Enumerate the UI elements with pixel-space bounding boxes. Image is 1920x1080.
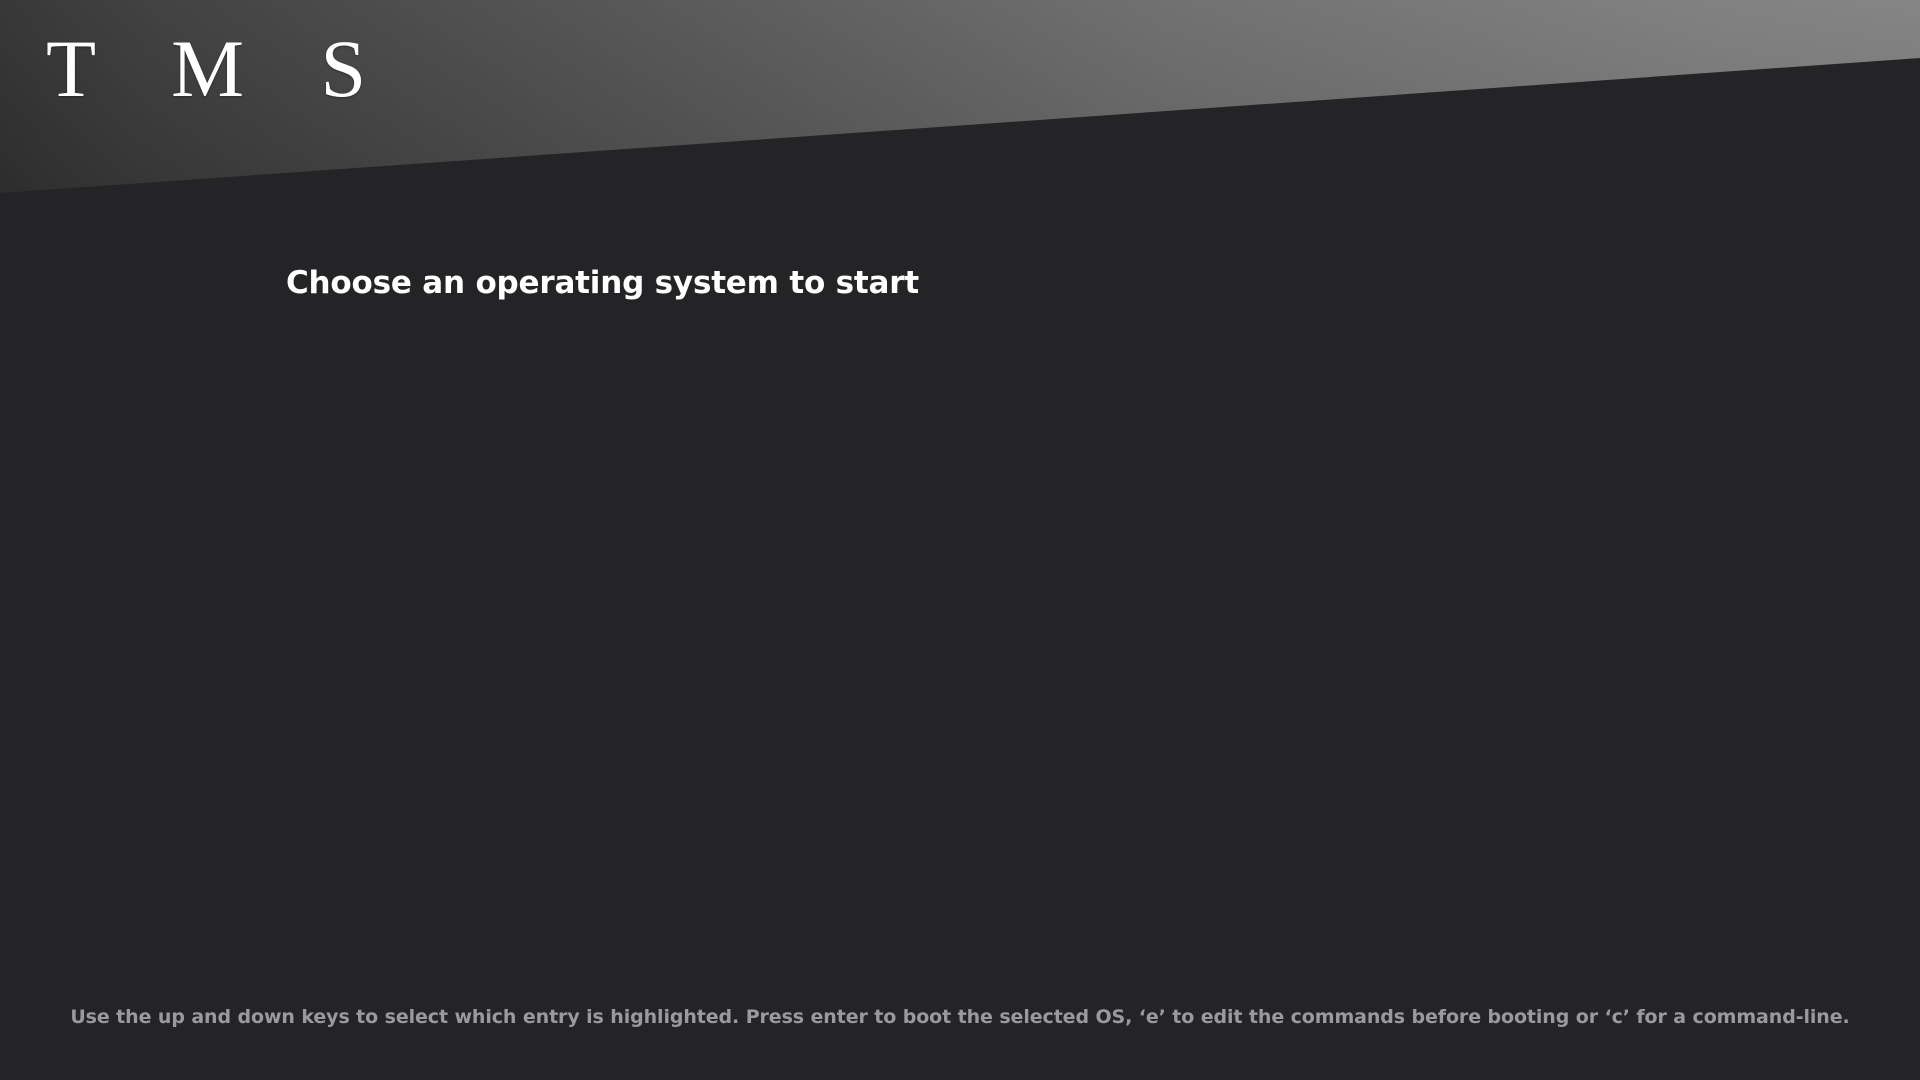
page-title: Choose an operating system to start (286, 265, 919, 301)
os-entry-list[interactable] (286, 330, 1636, 950)
keyboard-help-text: Use the up and down keys to select which… (0, 1006, 1920, 1028)
boot-menu-screen: T M S Choose an operating system to star… (0, 0, 1920, 1080)
tms-logo: T M S (46, 28, 394, 110)
